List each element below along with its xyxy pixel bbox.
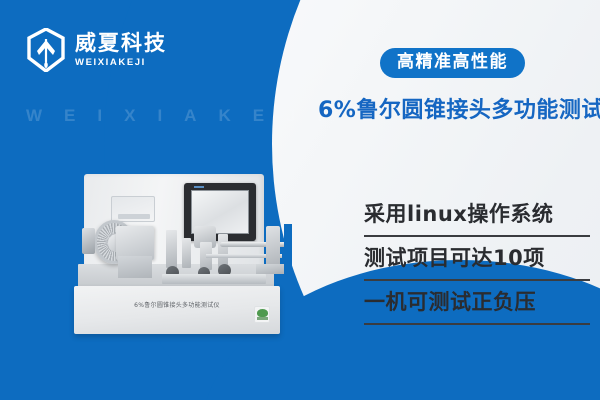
background-edge [284,224,292,286]
clamp-fixture [166,230,177,268]
feature-item: 一机可测试正负压 [364,281,590,323]
product-banner: 威夏科技 WEIXIAKEJI WEIXIAKEJI 高精准高性能 6%鲁尔圆锥… [0,0,600,400]
wheel-stand [118,256,152,278]
green-cert-logo-icon [254,306,270,323]
highlight-badge: 高精准高性能 [380,48,525,78]
feature-divider [364,323,590,325]
feature-item: 采用linux操作系统 [364,193,590,235]
panel-slot [111,196,155,222]
feature-list: 采用linux操作系统 测试项目可达10项 一机可测试正负压 [364,193,590,325]
product-image: 6%鲁尔圆锥接头多功能测试仪 [70,168,302,368]
screen-indicator-icon [194,186,204,188]
hexagon-shield-logo-icon [26,28,66,72]
machine-base-label: 6%鲁尔圆锥接头多功能测试仪 [74,300,280,309]
wheel-arm [82,228,95,254]
clamp-fixture [218,234,228,268]
right-support-base [256,264,284,274]
brand-logo[interactable]: 威夏科技 WEIXIAKEJI [26,28,167,72]
clamp-fixture [182,238,191,268]
headline-group: 高精准高性能 6%鲁尔圆锥接头多功能测试仪 [318,48,590,124]
brand-name-en: WEIXIAKEJI [75,58,167,68]
wheel-housing [116,226,154,260]
brand-name-cn: 威夏科技 [75,33,167,54]
slide-rail [162,274,266,284]
brand-watermark: WEIXIAKEJI [26,106,344,126]
feature-item: 测试项目可达10项 [364,237,590,279]
page-title: 6%鲁尔圆锥接头多功能测试仪 [318,92,590,124]
machine-base: 6%鲁尔圆锥接头多功能测试仪 [74,286,280,334]
